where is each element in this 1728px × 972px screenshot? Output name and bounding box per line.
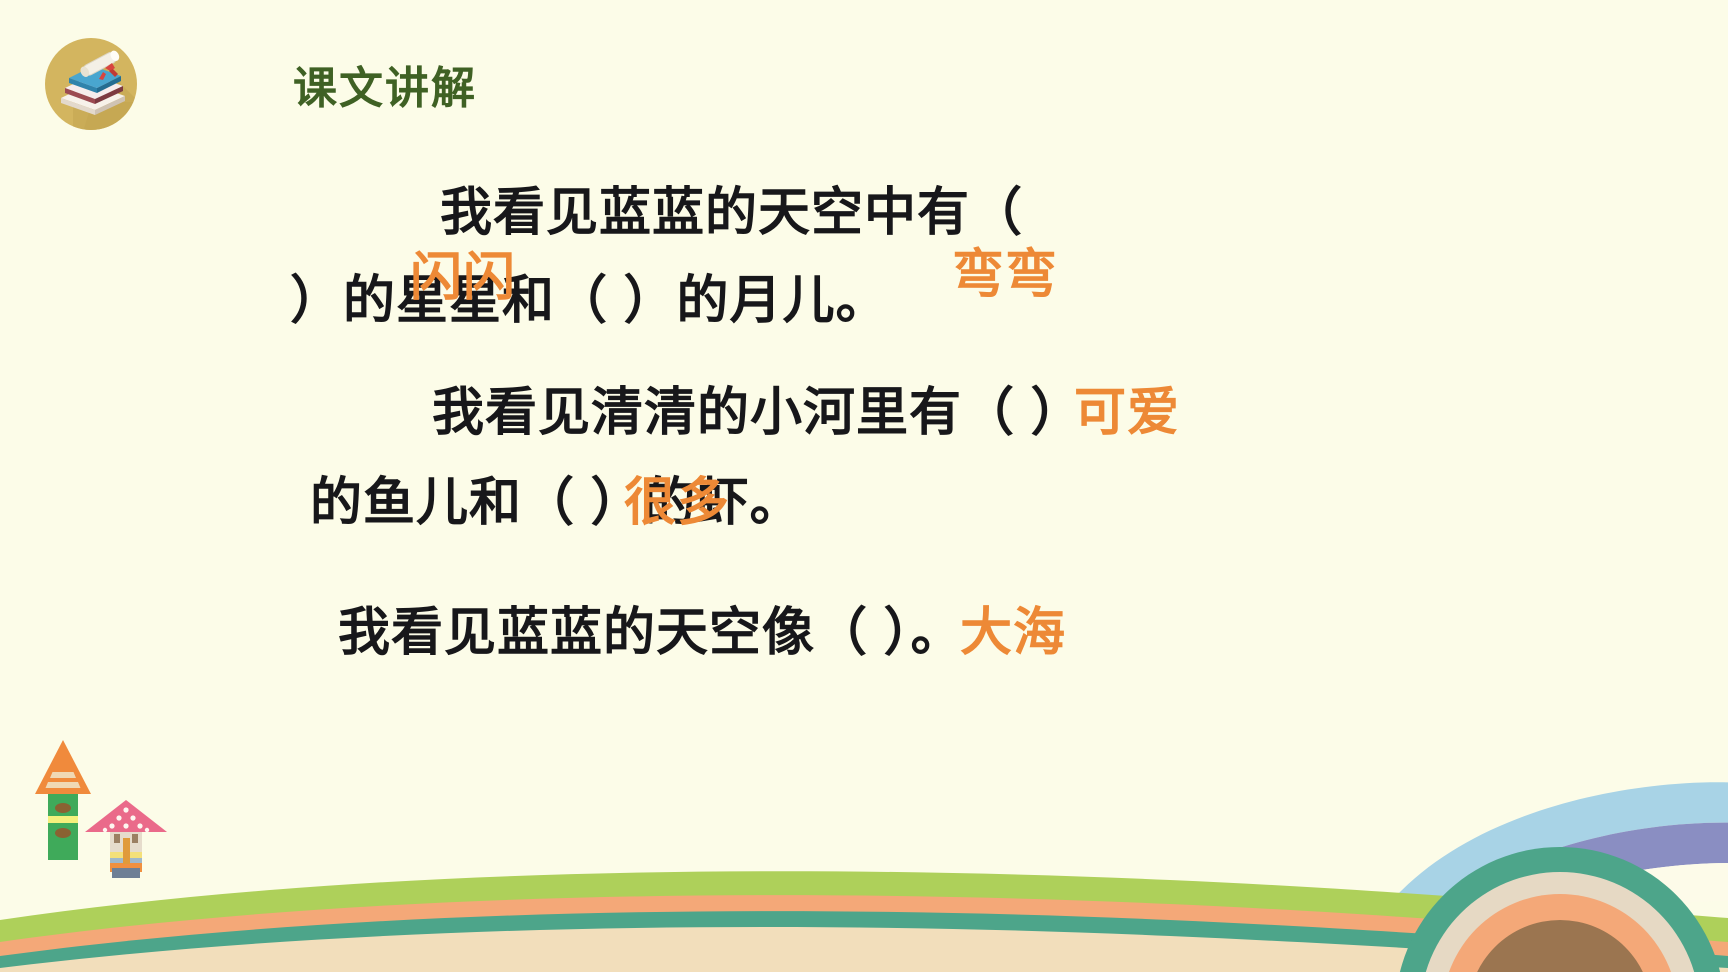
answer-henduo: 很多 [624,460,730,535]
answer-wanwan: 弯弯 [952,232,1058,307]
slide-header: 课文讲解 [0,0,1728,150]
exercise-line-5: 我看见蓝蓝的天空像（ ）。 [338,590,963,665]
exercise-text-block: 我看见蓝蓝的天空中有（ ）的星星和（ ）的月儿。 闪闪 弯弯 我看见清清的小河里… [0,150,1728,710]
slide-canvas: 课文讲解 我看见蓝蓝的天空中有（ ）的星星和（ ）的月儿。 闪闪 弯弯 我看见清… [0,0,1728,972]
exercise-line-1: 我看见蓝蓝的天空中有（ [440,170,1023,245]
exercise-line-2: ）的星星和（ ）的月儿。 [290,258,888,333]
books-diploma-icon [43,36,139,132]
answer-dahai: 大海 [960,590,1066,665]
answer-keai: 可爱 [1074,370,1180,445]
pink-roof-house [85,800,167,878]
concentric-sun [1395,847,1725,972]
bottom-scenery-decoration [0,712,1728,972]
hill-green-light [0,871,1728,972]
rainbow-arc [1350,782,1728,972]
hill-orange [0,895,1728,972]
page-title: 课文讲解 [293,52,477,116]
answer-shanshan: 闪闪 [410,235,516,310]
hill-teal [0,911,1728,972]
green-tower-house [35,740,91,860]
hill-sand [0,927,1728,972]
exercise-line-3: 我看见清清的小河里有（ ） [432,370,1083,445]
